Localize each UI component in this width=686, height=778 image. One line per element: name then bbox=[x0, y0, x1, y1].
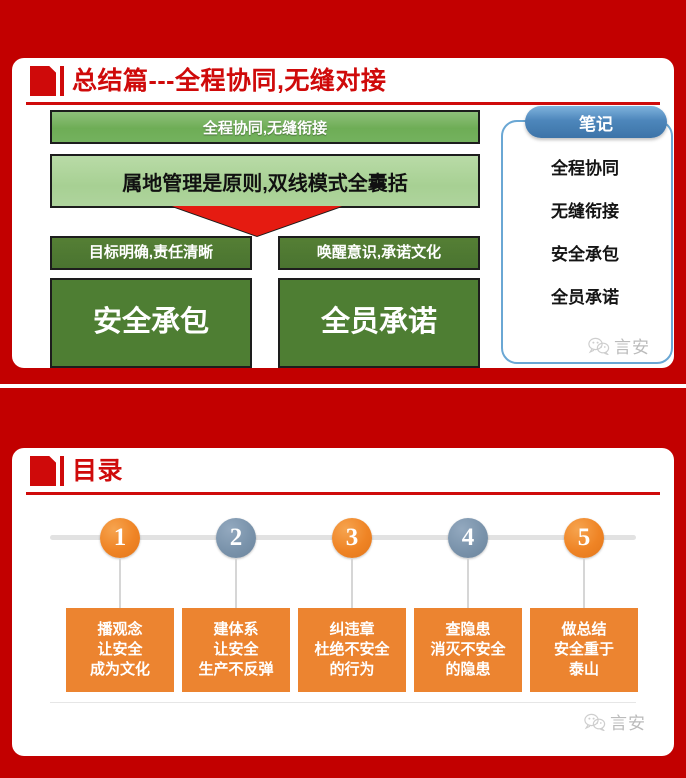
watermark-text: 言安 bbox=[610, 709, 646, 734]
wechat-icon bbox=[584, 713, 606, 731]
header-divider bbox=[26, 102, 660, 105]
step-connector bbox=[467, 558, 469, 608]
note-item: 全员承诺 bbox=[551, 283, 619, 308]
slide-2: 目录 1 播观念 让安全 成为文化 2 建体系 让安全 bbox=[0, 388, 686, 778]
step-number-badge: 3 bbox=[332, 518, 372, 558]
step-line: 安全重于 bbox=[554, 640, 614, 660]
slide-1-header: 总结篇---全程协同,无缝对接 bbox=[12, 58, 674, 106]
notes-panel-title: 笔记 bbox=[525, 106, 667, 138]
note-item: 全程协同 bbox=[551, 154, 619, 179]
header-accent-bar bbox=[60, 456, 64, 486]
step-line: 让安全 bbox=[213, 640, 258, 660]
watermark: 言安 bbox=[584, 709, 646, 734]
step-line: 泰山 bbox=[569, 660, 599, 680]
down-arrow-icon bbox=[172, 206, 342, 236]
notes-list: 全程协同 无缝衔接 安全承包 全员承诺 bbox=[501, 154, 669, 308]
note-item: 安全承包 bbox=[551, 240, 619, 265]
step-line: 查隐患 bbox=[445, 620, 490, 640]
header-divider bbox=[26, 492, 660, 495]
result-box-right: 全员承诺 bbox=[278, 278, 480, 368]
step-connector bbox=[583, 558, 585, 608]
step-line: 让安全 bbox=[97, 640, 142, 660]
step-card: 查隐患 消灭不安全 的隐患 bbox=[414, 608, 522, 692]
page-title: 目录 bbox=[72, 454, 123, 488]
page-flag-icon bbox=[30, 66, 56, 96]
result-box-left: 安全承包 bbox=[50, 278, 252, 368]
step-number-badge: 4 bbox=[448, 518, 488, 558]
step-line: 生产不反弹 bbox=[198, 660, 273, 680]
watermark-text: 言安 bbox=[614, 333, 650, 358]
slide-1: 总结篇---全程协同,无缝对接 全程协同,无缝衔接 属地管理是原则,双线模式全囊… bbox=[0, 0, 686, 384]
note-item: 无缝衔接 bbox=[551, 197, 619, 222]
slide-1-card: 总结篇---全程协同,无缝对接 全程协同,无缝衔接 属地管理是原则,双线模式全囊… bbox=[12, 58, 674, 368]
step-line: 纠违章 bbox=[329, 620, 374, 640]
step-line: 建体系 bbox=[213, 620, 258, 640]
slide-deck-screenshot: 总结篇---全程协同,无缝对接 全程协同,无缝衔接 属地管理是原则,双线模式全囊… bbox=[0, 0, 686, 778]
step-line: 杜绝不安全 bbox=[314, 640, 389, 660]
step-card: 播观念 让安全 成为文化 bbox=[66, 608, 174, 692]
step-line: 的隐患 bbox=[445, 660, 490, 680]
step-number-badge: 2 bbox=[216, 518, 256, 558]
slide-2-header: 目录 bbox=[12, 448, 674, 496]
step-card: 建体系 让安全 生产不反弹 bbox=[182, 608, 290, 692]
label-box-left: 目标明确,责任清晰 bbox=[50, 236, 252, 270]
step-card: 纠违章 杜绝不安全 的行为 bbox=[298, 608, 406, 692]
step-connector bbox=[235, 558, 237, 608]
banner-principle: 属地管理是原则,双线模式全囊括 bbox=[50, 154, 480, 208]
step-connector bbox=[119, 558, 121, 608]
step-connector bbox=[351, 558, 353, 608]
slide-2-card: 目录 1 播观念 让安全 成为文化 2 建体系 让安全 bbox=[12, 448, 674, 756]
banner-top: 全程协同,无缝衔接 bbox=[50, 110, 480, 144]
page-flag-icon bbox=[30, 456, 56, 486]
step-line: 的行为 bbox=[329, 660, 374, 680]
page-title: 总结篇---全程协同,无缝对接 bbox=[72, 64, 386, 98]
step-line: 播观念 bbox=[97, 620, 142, 640]
step-number-badge: 5 bbox=[564, 518, 604, 558]
step-card: 做总结 安全重于 泰山 bbox=[530, 608, 638, 692]
step-line: 做总结 bbox=[561, 620, 606, 640]
label-box-right: 唤醒意识,承诺文化 bbox=[278, 236, 480, 270]
header-accent-bar bbox=[60, 66, 64, 96]
step-number-badge: 1 bbox=[100, 518, 140, 558]
step-line: 消灭不安全 bbox=[430, 640, 505, 660]
wechat-icon bbox=[588, 337, 610, 355]
watermark: 言安 bbox=[588, 333, 650, 358]
footer-divider bbox=[50, 702, 636, 703]
step-line: 成为文化 bbox=[90, 660, 150, 680]
